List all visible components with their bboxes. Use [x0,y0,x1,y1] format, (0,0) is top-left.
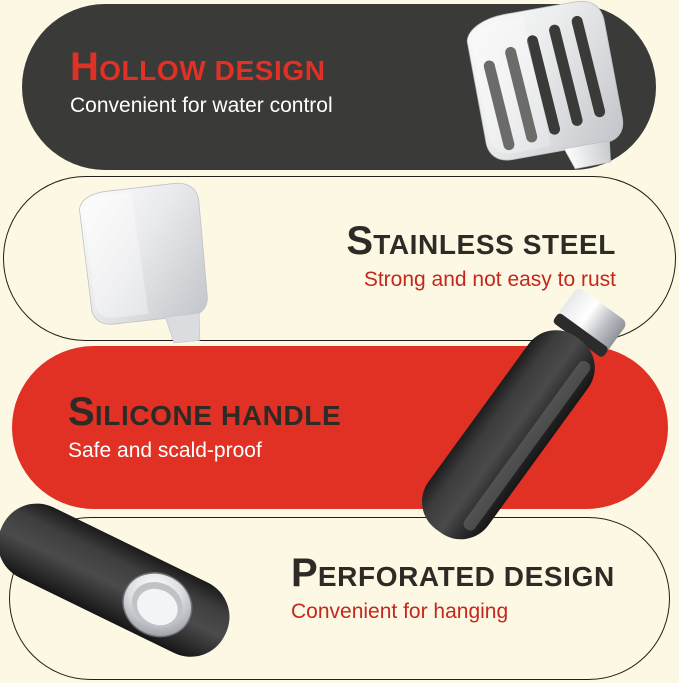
headline-rest: ILICONE HANDLE [95,400,341,431]
headline-rest: OLLOW DESIGN [99,55,326,86]
headline-rest: ERFORATED DESIGN [318,561,615,592]
subline-silicone: Safe and scald-proof [68,439,341,462]
headline-stainless: STAINLESS STEEL [346,221,616,261]
headline-cap: P [291,551,318,595]
perforated-handle-image [8,512,253,682]
headline-rest: TAINLESS STEEL [373,229,616,260]
slotted-spatula-head-image [445,2,660,174]
headline-hollow: HOLLOW DESIGN [70,47,333,87]
headline-cap: S [68,390,95,434]
feature-text-perforated: PERFORATED DESIGN Convenient for hanging [291,553,615,623]
silicone-handle-image [385,330,675,515]
headline-perforated: PERFORATED DESIGN [291,553,615,593]
headline-cap: H [70,45,99,89]
feature-text-hollow: HOLLOW DESIGN Convenient for water contr… [70,47,333,117]
subline-hollow: Convenient for water control [70,94,333,117]
subline-perforated: Convenient for hanging [291,600,615,623]
feature-text-silicone: SILICONE HANDLE Safe and scald-proof [68,392,341,462]
feature-text-stainless: STAINLESS STEEL Strong and not easy to r… [346,221,616,291]
stainless-blade-image [60,182,250,347]
feature-infographic: HOLLOW DESIGN Convenient for water contr… [0,0,679,683]
headline-silicone: SILICONE HANDLE [68,392,341,432]
subline-stainless: Strong and not easy to rust [346,268,616,291]
headline-cap: S [346,219,373,263]
